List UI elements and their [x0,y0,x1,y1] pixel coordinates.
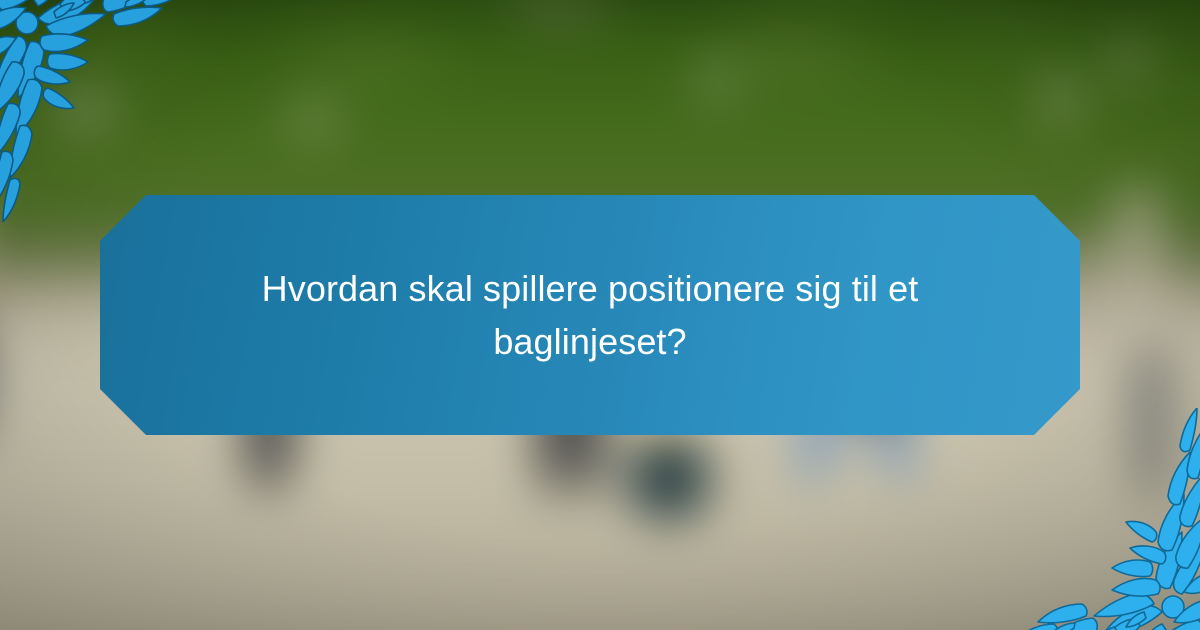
page-title: Hvordan skal spillere positionere sig ti… [220,262,960,369]
social-card: Hvordan skal spillere positionere sig ti… [0,0,1200,630]
damask-corner-ornament-bottom-right [1016,408,1200,630]
damask-corner-ornament-top-left [0,0,184,222]
headline-panel: Hvordan skal spillere positionere sig ti… [100,195,1080,435]
